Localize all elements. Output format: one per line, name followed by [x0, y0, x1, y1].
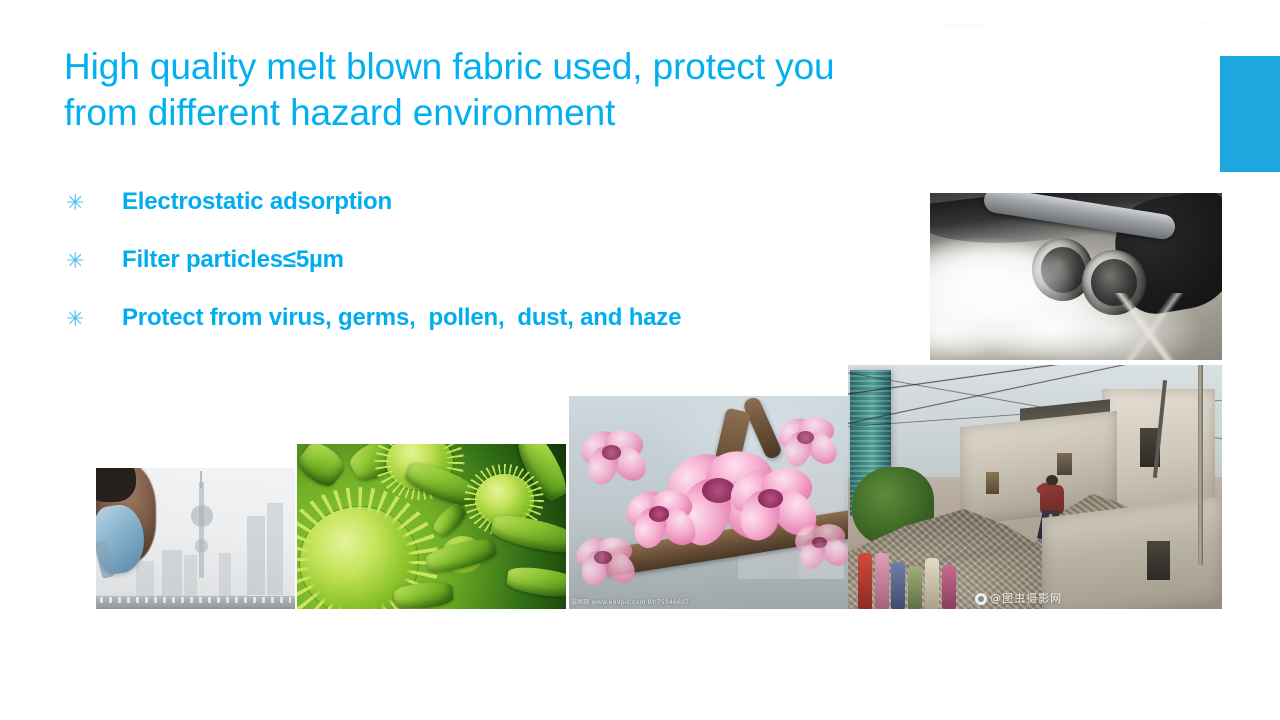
laundry-item — [908, 566, 922, 609]
smog-scene — [96, 468, 295, 609]
laundry-item — [925, 558, 939, 609]
microbe-scene — [297, 444, 566, 609]
skyline-building — [136, 561, 154, 596]
skyline-building — [219, 553, 231, 597]
faint-mark-left — [938, 24, 990, 27]
faint-mark-right — [1196, 22, 1212, 25]
hanging-laundry — [855, 546, 982, 609]
pearl-tower-antenna — [200, 471, 202, 488]
watermark-text: @图虫摄影网 — [990, 592, 1062, 605]
image-demolition-rubble-dust: @图虫摄影网 — [848, 365, 1222, 609]
stock-photo-watermark: 摄图网 www.699pic.com BY:75946607 — [571, 599, 689, 607]
bacteria-rod — [297, 444, 349, 492]
list-item: ✳ Electrostatic adsorption — [66, 186, 926, 244]
skyline-building — [247, 516, 265, 595]
skyline-building — [267, 503, 283, 595]
laundry-item — [942, 565, 956, 609]
photo-watermark: @图虫摄影网 — [975, 592, 1062, 605]
pearl-tower-sphere-lower — [195, 539, 209, 553]
bacteria-rod — [505, 565, 566, 601]
skyline-building — [184, 555, 198, 596]
laundry-item — [891, 562, 905, 609]
bullet-label-2: Filter particles≤5µm — [122, 244, 344, 276]
weibo-logo-icon — [975, 593, 987, 605]
bullet-label-1: Electrostatic adsorption — [122, 186, 392, 218]
asterisk-bullet-icon: ✳ — [66, 304, 92, 334]
blossom-scene: 摄图网 www.699pic.com BY:75946607 — [569, 396, 850, 609]
demolition-scene: @图虫摄影网 — [848, 365, 1222, 609]
bullet-list: ✳ Electrostatic adsorption ✳ Filter part… — [66, 186, 926, 360]
image-man-wearing-mask-smog-city — [96, 468, 295, 609]
bullet-label-3: Protect from virus, germs, pollen, dust,… — [122, 302, 681, 334]
skyline-building — [162, 550, 182, 597]
blossom-flower — [777, 417, 839, 464]
smoke-cloud — [930, 223, 1158, 360]
page-title: High quality melt blown fabric used, pro… — [64, 44, 1024, 136]
laundry-item — [875, 553, 889, 609]
utility-pole — [1198, 365, 1203, 565]
pearl-tower-shaft — [199, 482, 203, 578]
bacteria-rod — [430, 500, 469, 539]
exhaust-scene — [930, 193, 1222, 360]
slide-canvas: High quality melt blown fabric used, pro… — [0, 0, 1280, 720]
blossom-flower — [794, 524, 850, 567]
blossom-flower — [580, 430, 647, 481]
asterisk-bullet-icon: ✳ — [66, 246, 92, 276]
pearl-tower-sphere-upper — [191, 505, 213, 528]
image-car-exhaust-smoke — [930, 193, 1222, 360]
blossom-flower — [575, 537, 637, 584]
image-green-bacteria-microbes — [297, 444, 566, 609]
wall-opening — [1147, 541, 1169, 580]
list-item: ✳ Protect from virus, germs, pollen, dus… — [66, 302, 926, 360]
laundry-item — [858, 553, 872, 609]
broken-window — [986, 472, 999, 494]
decorative-blue-rectangle — [1220, 56, 1280, 172]
asterisk-bullet-icon: ✳ — [66, 188, 92, 218]
image-pink-cherry-blossom-pollen: 摄图网 www.699pic.com BY:75946607 — [569, 396, 850, 609]
list-item: ✳ Filter particles≤5µm — [66, 244, 926, 302]
broken-window — [1057, 453, 1072, 475]
waterfront-railing — [96, 596, 295, 609]
bacteria-rod — [489, 511, 566, 558]
